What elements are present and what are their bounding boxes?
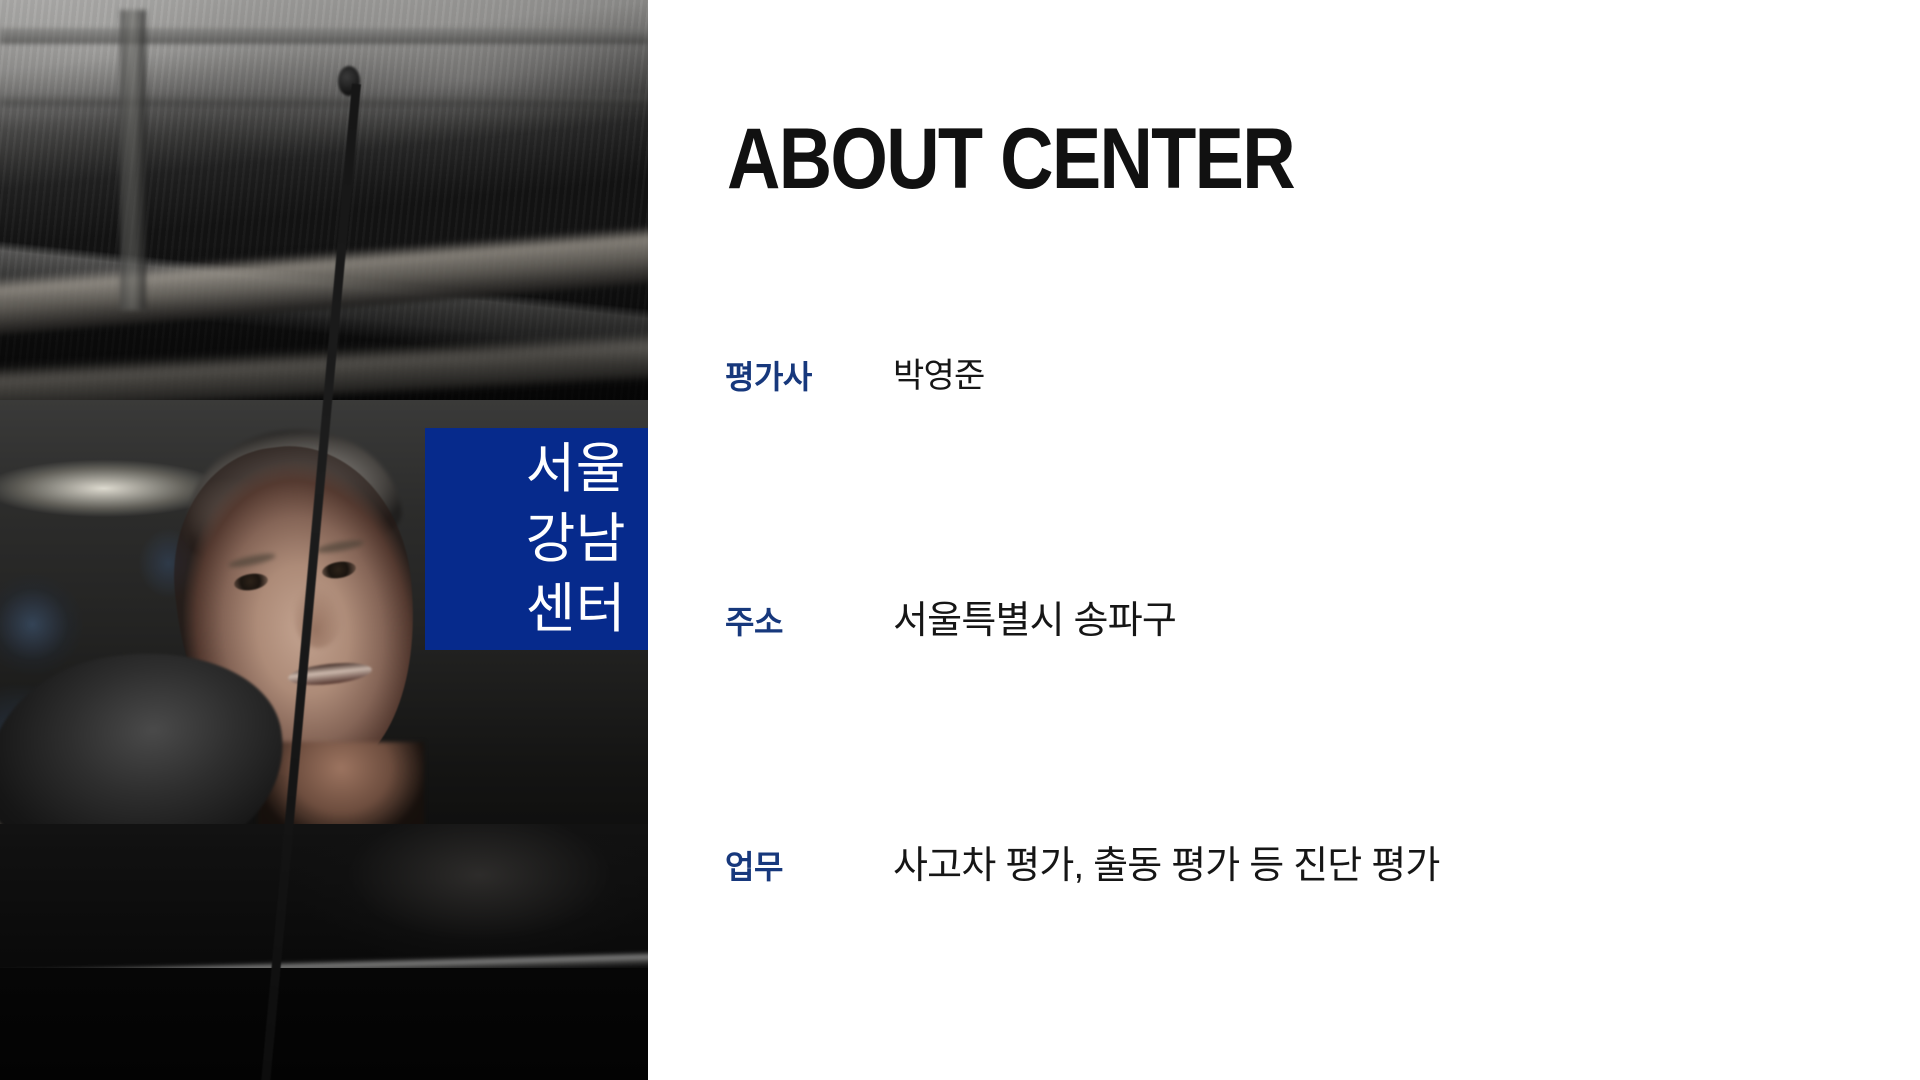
info-label-appraiser: 평가사 xyxy=(725,352,812,398)
info-value-duties: 사고차 평가, 출동 평가 등 진단 평가 xyxy=(893,834,1440,889)
garage-support-post xyxy=(120,10,146,310)
page-title: ABOUT CENTER xyxy=(727,110,1294,209)
car-body-foreground xyxy=(0,968,648,1080)
garage-ceiling-rail-secondary xyxy=(0,96,648,106)
info-row-appraiser: 평가사 박영준 xyxy=(648,352,1920,597)
info-label-address: 주소 xyxy=(725,597,783,643)
info-value-address: 서울특별시 송파구 xyxy=(893,589,1176,644)
center-name-badge: 서울 강남 센터 xyxy=(425,428,648,650)
center-info-table: 평가사 박영준 주소 서울특별시 송파구 업무 사고차 평가, 출동 평가 등 … xyxy=(648,352,1920,1080)
slide-root: 서울 강남 센터 ABOUT CENTER 평가사 박영준 주소 서울특별시 송… xyxy=(0,0,1920,1080)
content-panel: ABOUT CENTER 평가사 박영준 주소 서울특별시 송파구 업무 사고차… xyxy=(648,0,1920,1080)
info-value-appraiser: 박영준 xyxy=(893,348,984,397)
center-name-line-2: 강남 xyxy=(526,504,626,574)
garage-ceiling-rail xyxy=(0,28,648,44)
center-name-line-3: 센터 xyxy=(526,574,626,644)
info-label-duties: 업무 xyxy=(725,842,783,888)
center-name-line-1: 서울 xyxy=(526,434,626,504)
info-row-address: 주소 서울특별시 송파구 xyxy=(648,597,1920,842)
info-row-duties: 업무 사고차 평가, 출동 평가 등 진단 평가 xyxy=(648,842,1920,1080)
